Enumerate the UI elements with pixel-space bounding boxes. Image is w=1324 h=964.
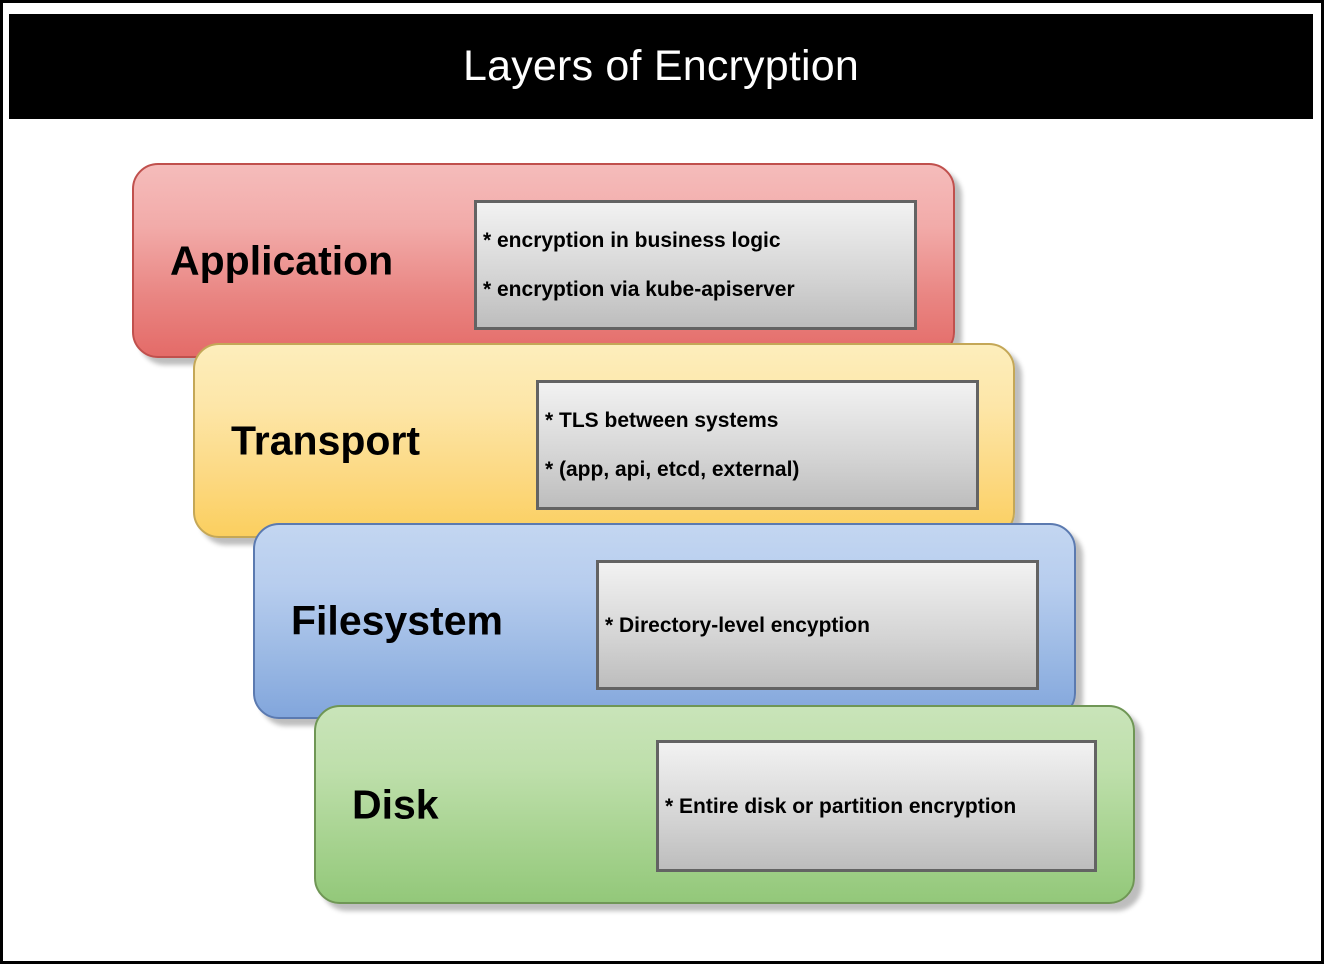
page-title: Layers of Encryption <box>463 45 859 88</box>
layer-filesystem-notes: * Directory-level encyption <box>596 560 1039 690</box>
note-line: * (app, api, etcd, external) <box>545 459 970 480</box>
note-line: * encryption via kube-apiserver <box>483 279 908 300</box>
note-line: * encryption in business logic <box>483 230 908 251</box>
note-line: * Directory-level encyption <box>605 615 1030 636</box>
note-line: * Entire disk or partition encryption <box>665 796 1088 817</box>
diagram-canvas: Layers of Encryption Application * encry… <box>0 0 1324 964</box>
layer-disk[interactable]: Disk * Entire disk or partition encrypti… <box>314 705 1135 904</box>
layer-disk-notes: * Entire disk or partition encryption <box>656 740 1097 872</box>
layer-filesystem[interactable]: Filesystem * Directory-level encyption <box>253 523 1076 719</box>
note-line: * TLS between systems <box>545 410 970 431</box>
layer-disk-label: Disk <box>352 784 439 825</box>
layer-transport-label: Transport <box>231 420 420 461</box>
layer-application-label: Application <box>170 240 393 281</box>
title-bar: Layers of Encryption <box>9 14 1313 119</box>
layer-filesystem-label: Filesystem <box>291 601 503 642</box>
layer-application[interactable]: Application * encryption in business log… <box>132 163 955 358</box>
layer-transport-notes: * TLS between systems * (app, api, etcd,… <box>536 380 979 510</box>
layer-transport[interactable]: Transport * TLS between systems * (app, … <box>193 343 1015 538</box>
layer-application-notes: * encryption in business logic * encrypt… <box>474 200 917 330</box>
